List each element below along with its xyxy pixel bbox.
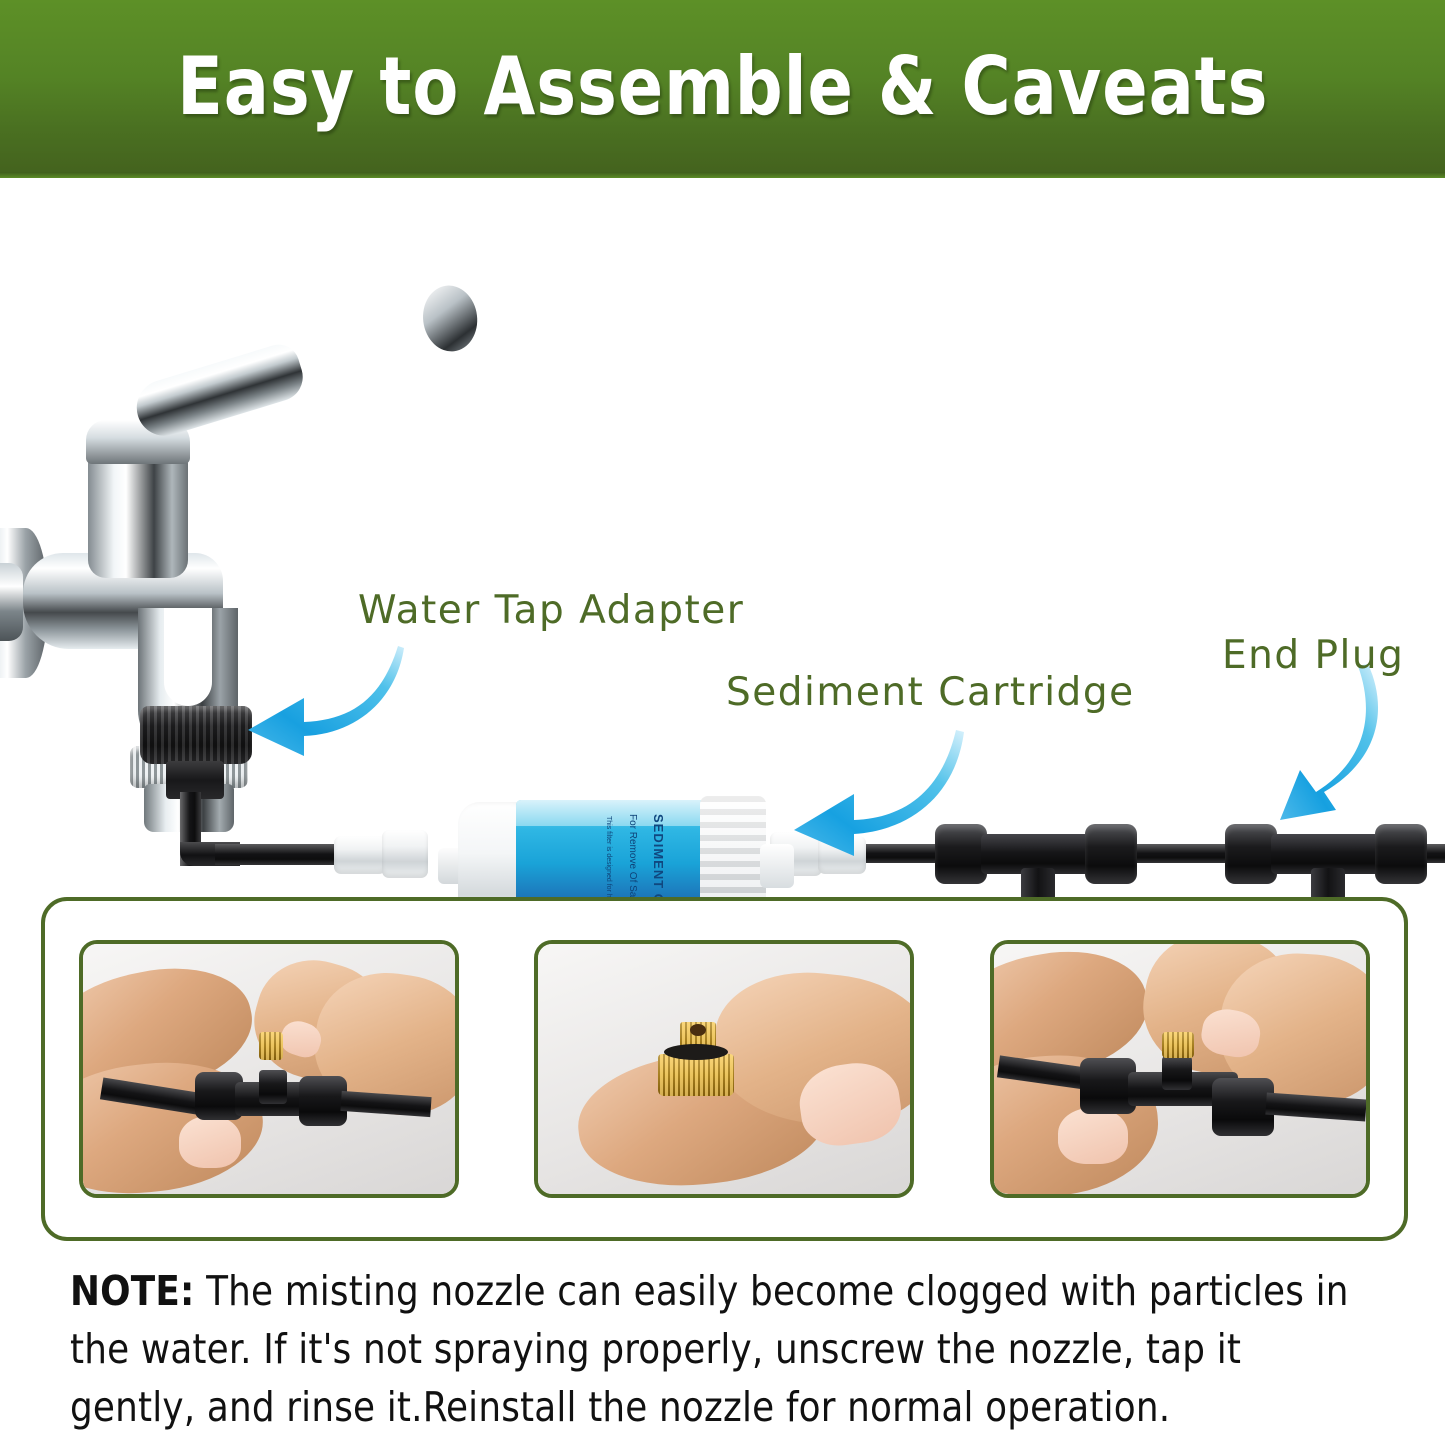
faucet-wall-nipple [0,563,23,641]
faucet-spout-inner [164,608,212,706]
photo-1-nut-right [299,1076,347,1126]
photo-2-nozzle-body [658,1054,734,1096]
faucet-lever-handle [130,340,309,443]
page-title: Easy to Assemble & Caveats [177,40,1268,133]
photo-2-o-ring [664,1044,728,1060]
faucet-lever-tip [419,282,481,354]
page-header: Easy to Assemble & Caveats [0,0,1445,172]
arrow-to-tap-adapter-icon [232,628,412,758]
quick-connect-1 [334,836,386,874]
photo-3-thumbnail [1058,1108,1128,1164]
label-end-plug: End Plug [1222,633,1404,678]
photo-1-thumbnail [179,1116,241,1168]
photo-panel-3 [990,940,1370,1198]
photo-1-brass-nozzle [259,1032,283,1060]
photo-panel-2 [534,940,914,1198]
note-block: NOTE: The misting nozzle can easily beco… [70,1262,1360,1437]
photo-1-tee-port [259,1070,287,1104]
assembly-diagram: SEDIMENT CARTRIDGE For Remove Of Sand Di… [0,178,1445,890]
quick-connect-2 [382,830,428,878]
note-body: The misting nozzle can easily become clo… [70,1267,1349,1431]
note-prefix: NOTE: [70,1267,195,1315]
arrow-to-sediment-cartridge-icon [780,718,970,858]
tee-nut-right-1 [1085,824,1137,884]
tee-nozzle-assembly-2 [1225,824,1445,884]
tee-nut-left-2 [1225,824,1277,884]
label-water-tap-adapter: Water Tap Adapter [358,588,744,633]
tee-nut-right-2 [1375,824,1427,884]
arrow-to-end-plug-icon [1240,658,1400,828]
photo-3-brass-nozzle [1162,1032,1194,1058]
photo-3-tee-port [1162,1056,1192,1090]
photo-strip [41,897,1408,1241]
photo-panel-1 [79,940,459,1198]
label-sediment-cartridge: Sediment Cartridge [726,670,1135,715]
hose-segment-1 [215,844,345,865]
